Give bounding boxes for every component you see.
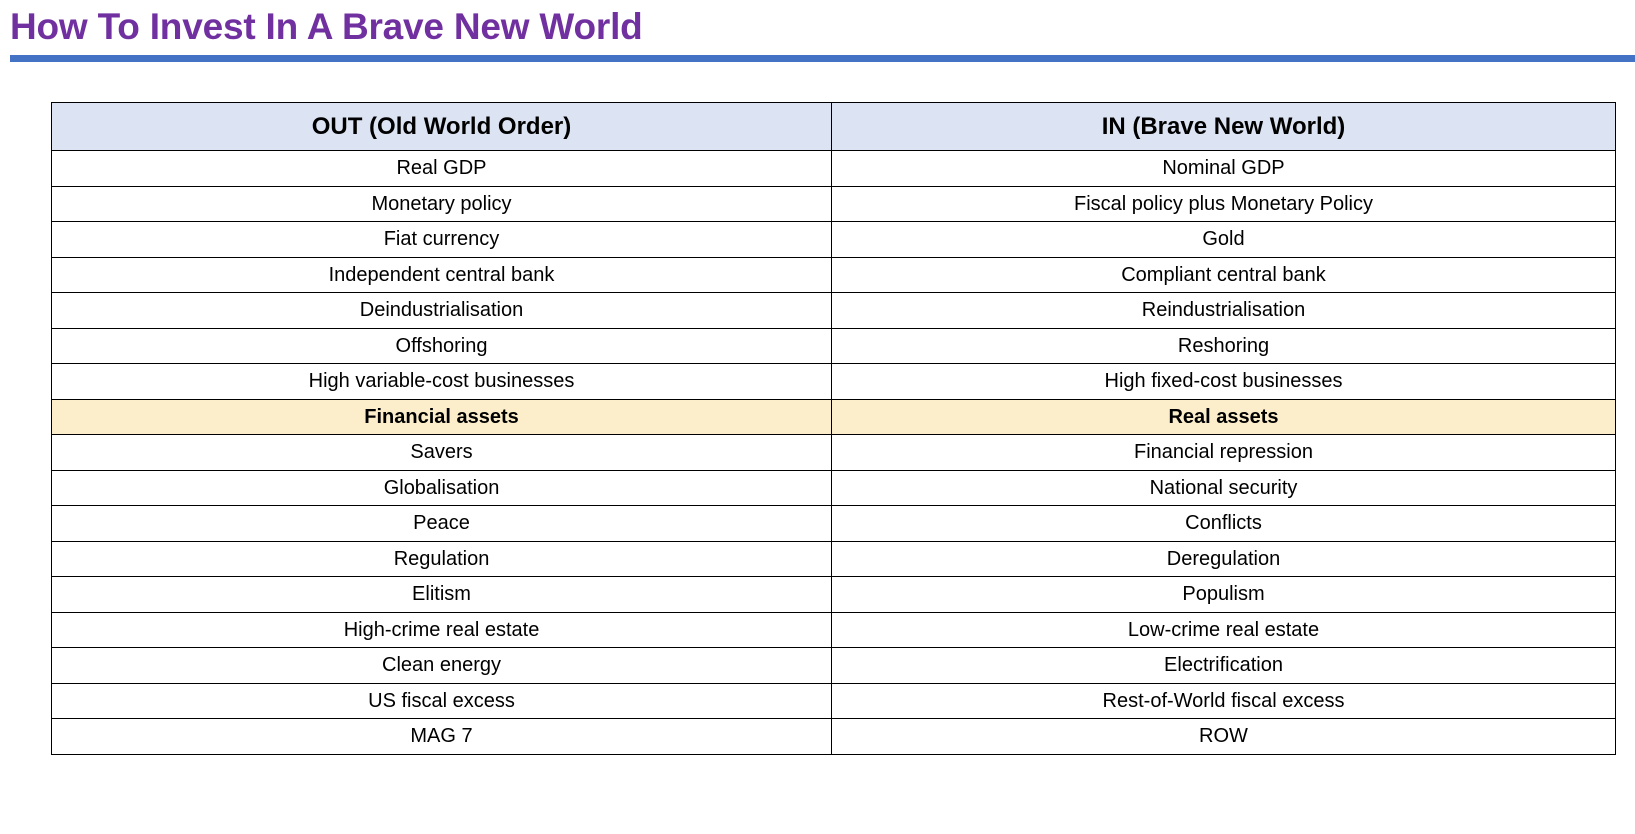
cell-out: US fiscal excess (52, 683, 832, 719)
cell-in: High fixed-cost businesses (832, 364, 1616, 400)
slide-canvas: How To Invest In A Brave New World OUT (… (0, 0, 1635, 834)
table-row: Monetary policyFiscal policy plus Moneta… (52, 186, 1616, 222)
table-row: Financial assetsReal assets (52, 399, 1616, 435)
table-header: OUT (Old World Order) IN (Brave New Worl… (52, 103, 1616, 151)
cell-out: Fiat currency (52, 222, 832, 258)
cell-out: Independent central bank (52, 257, 832, 293)
cell-in: Deregulation (832, 541, 1616, 577)
cell-in: Nominal GDP (832, 151, 1616, 187)
cell-out: Monetary policy (52, 186, 832, 222)
cell-out: Real GDP (52, 151, 832, 187)
cell-in: Low-crime real estate (832, 612, 1616, 648)
cell-in: Reindustrialisation (832, 293, 1616, 329)
cell-in: ROW (832, 719, 1616, 755)
cell-in: National security (832, 470, 1616, 506)
column-header-in: IN (Brave New World) (832, 103, 1616, 151)
cell-out: Elitism (52, 577, 832, 613)
cell-in: Gold (832, 222, 1616, 258)
table-row: PeaceConflicts (52, 506, 1616, 542)
table-row: DeindustrialisationReindustrialisation (52, 293, 1616, 329)
table-row: High-crime real estateLow-crime real est… (52, 612, 1616, 648)
cell-in: Rest-of-World fiscal excess (832, 683, 1616, 719)
table-row: OffshoringReshoring (52, 328, 1616, 364)
cell-in: Electrification (832, 648, 1616, 684)
cell-in: Fiscal policy plus Monetary Policy (832, 186, 1616, 222)
page-title: How To Invest In A Brave New World (10, 4, 643, 50)
cell-out: Clean energy (52, 648, 832, 684)
table-body: Real GDPNominal GDPMonetary policyFiscal… (52, 151, 1616, 755)
table-row: GlobalisationNational security (52, 470, 1616, 506)
cell-in: Reshoring (832, 328, 1616, 364)
cell-out: MAG 7 (52, 719, 832, 755)
cell-out: Deindustrialisation (52, 293, 832, 329)
comparison-table: OUT (Old World Order) IN (Brave New Worl… (51, 102, 1616, 755)
cell-out: Offshoring (52, 328, 832, 364)
cell-in: Financial repression (832, 435, 1616, 471)
table-row: ElitismPopulism (52, 577, 1616, 613)
title-block: How To Invest In A Brave New World (0, 0, 1635, 66)
table-row: Fiat currencyGold (52, 222, 1616, 258)
cell-in: Conflicts (832, 506, 1616, 542)
title-underline-rule (10, 55, 1635, 62)
cell-out: Financial assets (52, 399, 832, 435)
column-header-out: OUT (Old World Order) (52, 103, 832, 151)
table-row: Independent central bankCompliant centra… (52, 257, 1616, 293)
cell-in: Populism (832, 577, 1616, 613)
table-row: Real GDPNominal GDP (52, 151, 1616, 187)
cell-out: Peace (52, 506, 832, 542)
table-row: RegulationDeregulation (52, 541, 1616, 577)
cell-in: Real assets (832, 399, 1616, 435)
table-row: Clean energyElectrification (52, 648, 1616, 684)
comparison-table-container: OUT (Old World Order) IN (Brave New Worl… (51, 102, 1615, 755)
cell-in: Compliant central bank (832, 257, 1616, 293)
table-header-row: OUT (Old World Order) IN (Brave New Worl… (52, 103, 1616, 151)
table-row: High variable-cost businessesHigh fixed-… (52, 364, 1616, 400)
cell-out: High-crime real estate (52, 612, 832, 648)
table-row: MAG 7ROW (52, 719, 1616, 755)
table-row: SaversFinancial repression (52, 435, 1616, 471)
cell-out: High variable-cost businesses (52, 364, 832, 400)
table-row: US fiscal excessRest-of-World fiscal exc… (52, 683, 1616, 719)
cell-out: Savers (52, 435, 832, 471)
cell-out: Globalisation (52, 470, 832, 506)
cell-out: Regulation (52, 541, 832, 577)
